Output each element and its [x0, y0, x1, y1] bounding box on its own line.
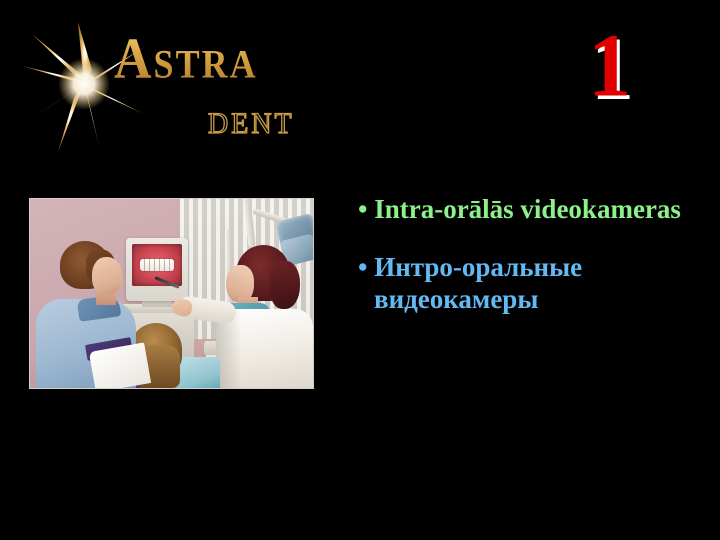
bullet-item-latvian: • Intra-orālās videokameras — [358, 194, 698, 226]
brand-name-astra: Astra — [114, 26, 258, 92]
dental-office-photo — [30, 199, 313, 388]
bullet-text-russian: Интро-оральные видеокамеры — [374, 252, 582, 314]
photo-woman-face — [92, 257, 122, 295]
bullet-item-russian: • Интро-оральные видеокамеры — [358, 252, 698, 316]
photo-patient-bib — [176, 357, 220, 388]
slide-number: 1 — [588, 20, 631, 110]
bullet-text-latvian: Intra-orālās videokameras — [374, 194, 681, 224]
photo-teeth-gaps — [140, 259, 174, 271]
astra-dent-logo: Astra Astra dent — [18, 10, 348, 155]
photo-dentist-ponytail — [270, 261, 300, 309]
presentation-slide: Astra Astra dent 1 — [0, 0, 720, 540]
bullet-list: • Intra-orālās videokameras • Интро-орал… — [358, 194, 698, 330]
brand-name-dent: dent — [208, 94, 295, 143]
